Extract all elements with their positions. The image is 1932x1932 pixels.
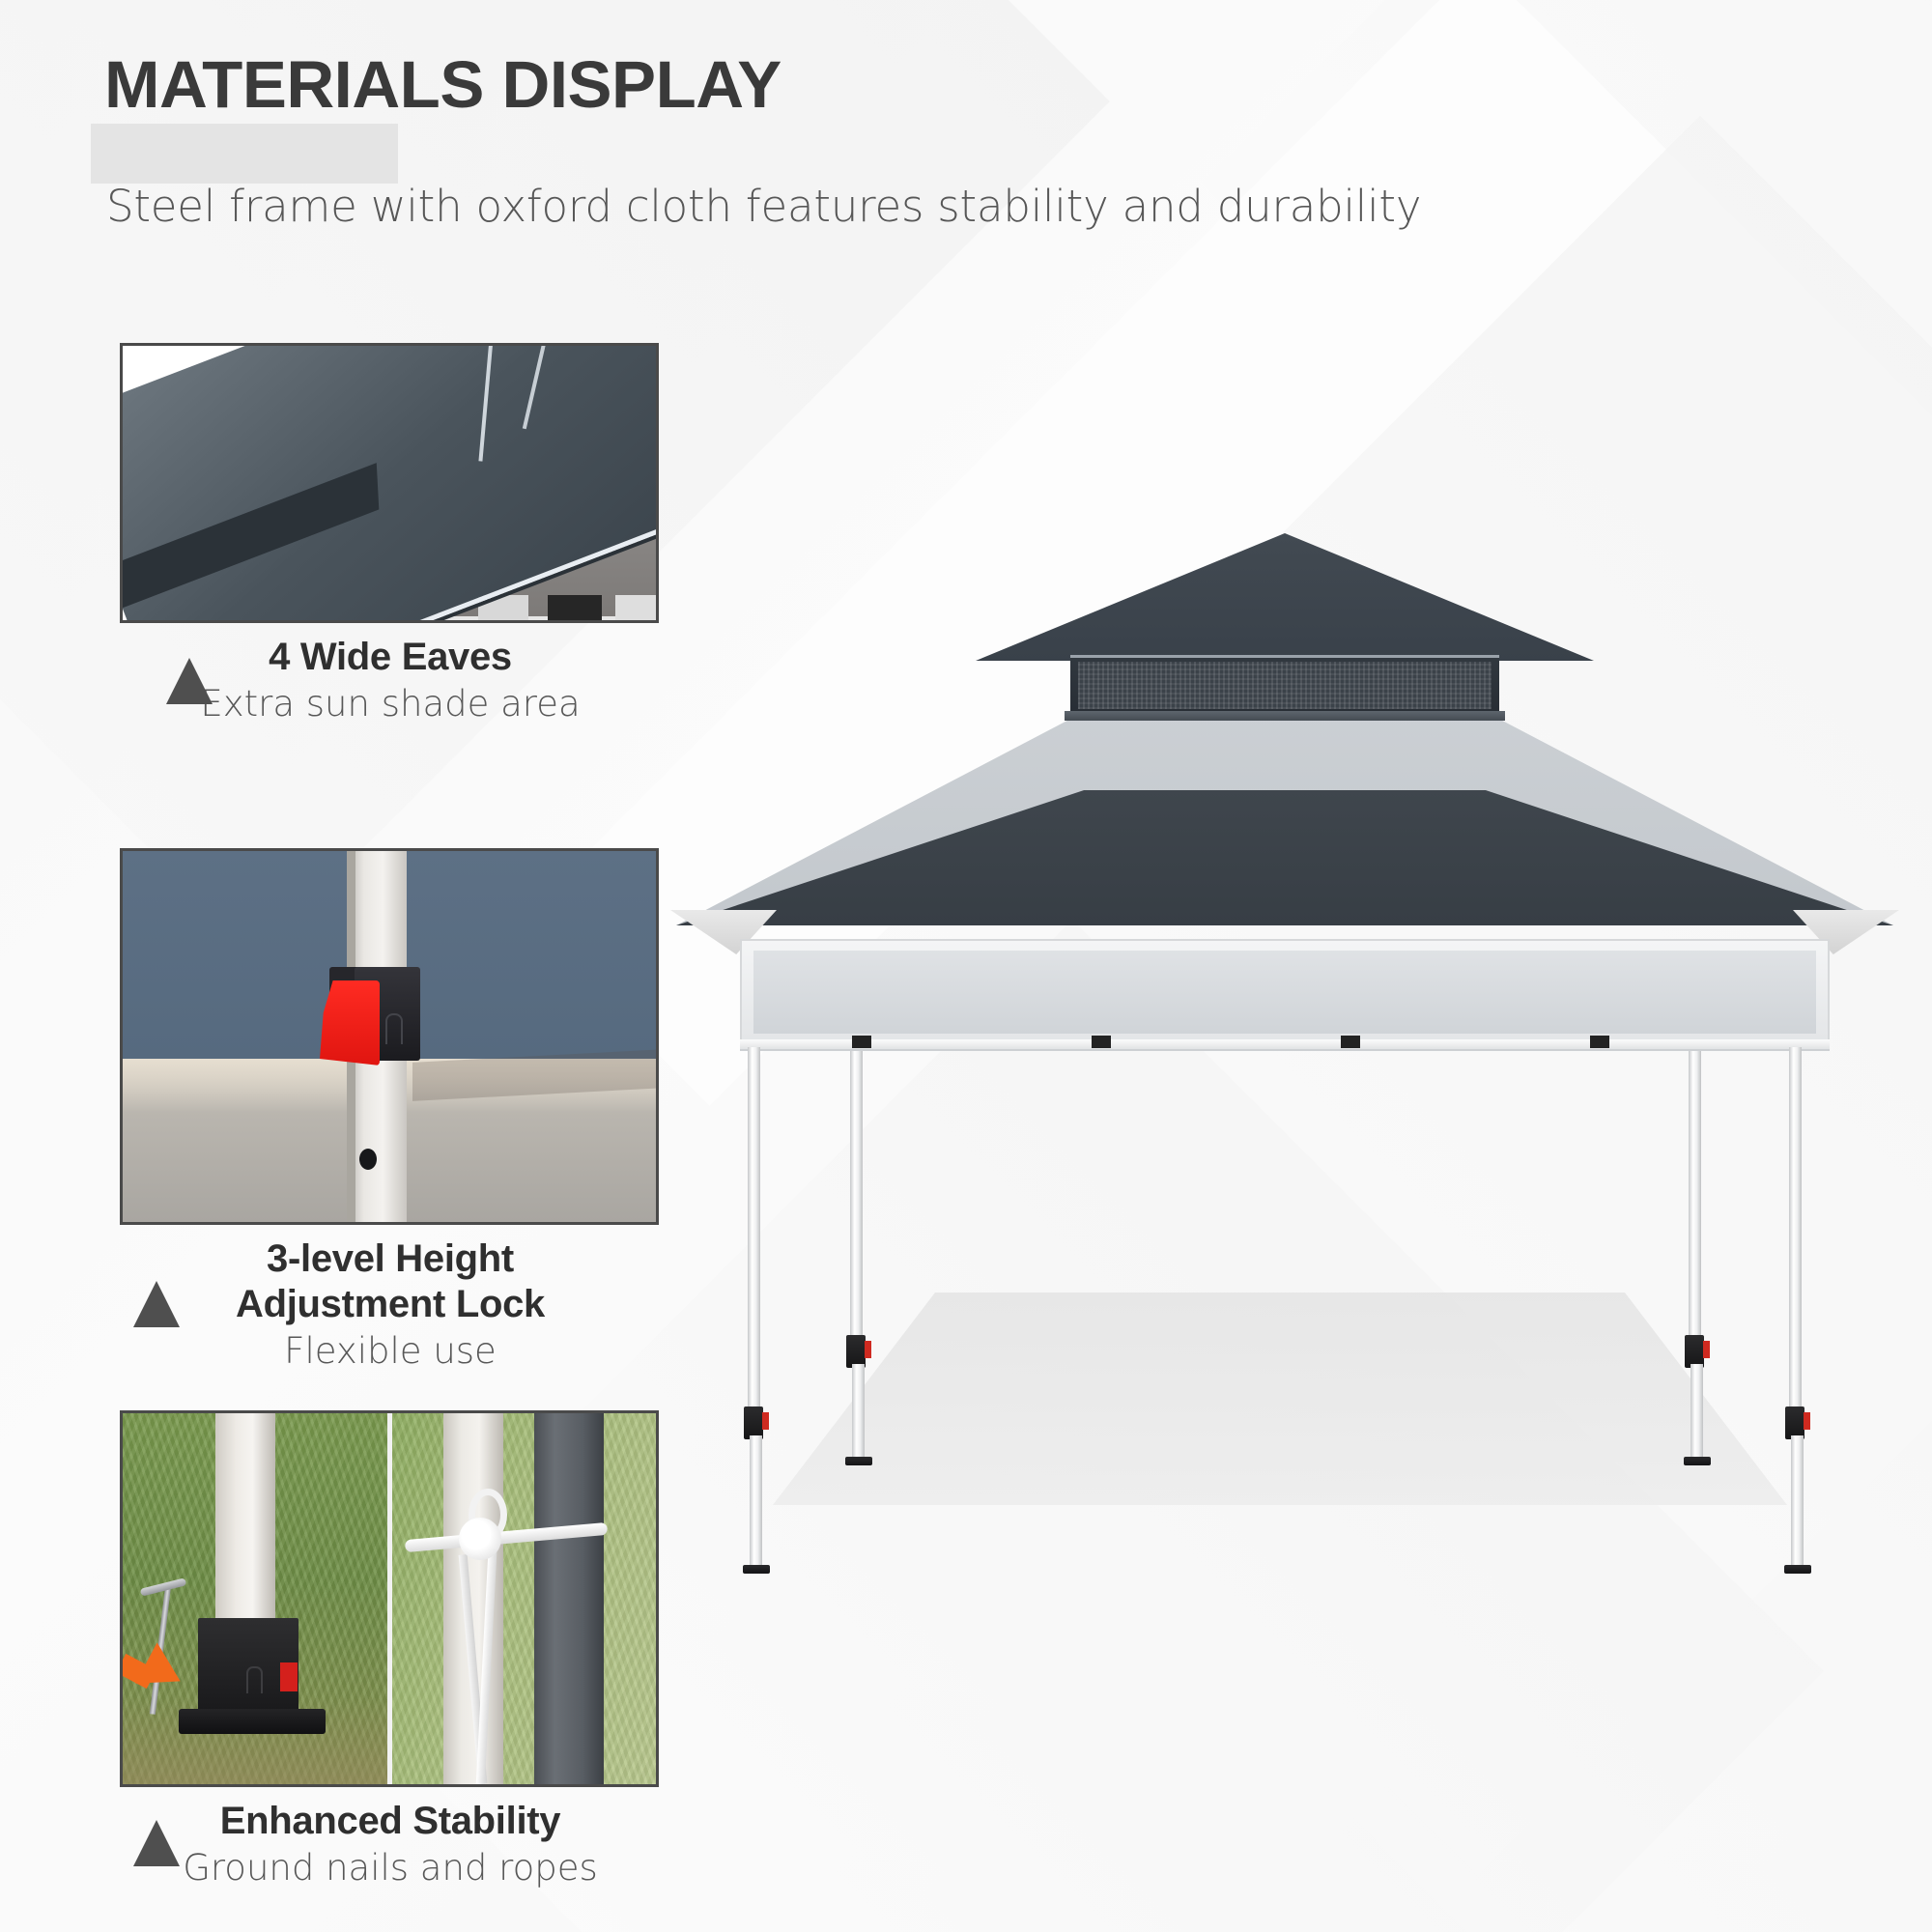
gazebo-floor-shadow: [773, 1293, 1787, 1505]
gazebo-leg-front-right-upper: [1789, 1047, 1802, 1414]
gazebo-leg-back-left-lower: [852, 1364, 865, 1463]
gazebo-leg-back-right-lower: [1690, 1364, 1703, 1463]
canopy-rib-2: [523, 343, 568, 429]
caption-wide-eaves: 4 Wide Eaves Extra sun shade area: [120, 623, 661, 726]
background-post-c: [548, 595, 602, 623]
feature-card-wide-eaves: 4 Wide Eaves Extra sun shade area: [120, 343, 661, 726]
gazebo-bracket: [1092, 1036, 1111, 1048]
gazebo-leg-back-left-upper: [850, 1051, 863, 1343]
gazebo-foot-front-left: [743, 1565, 770, 1574]
gazebo-leg-front-right-lower: [1791, 1435, 1804, 1571]
photo-right-half-rope-knot: [389, 1413, 656, 1784]
feature-card-enhanced-stability: Enhanced Stability Ground nails and rope…: [120, 1410, 661, 1890]
gazebo-fascia: [740, 939, 1830, 1047]
photo-enhanced-stability: [120, 1410, 659, 1787]
gazebo-leg-front-left-upper: [748, 1047, 760, 1414]
gazebo-leg-back-right-upper: [1689, 1051, 1701, 1343]
infographic-page: MATERIALS DISPLAY Steel frame with oxfor…: [0, 0, 1932, 1932]
feature-card-height-lock: 3-level Height Adjustment Lock Flexible …: [120, 848, 661, 1374]
triangle-up-icon: [166, 658, 213, 704]
gazebo-fascia-inner: [753, 951, 1816, 1034]
gazebo-vent-mesh: [1078, 662, 1492, 709]
gazebo-foot-back-left: [845, 1457, 872, 1465]
gazebo-leg-lock-back-right: [1685, 1335, 1704, 1368]
page-subtitle: Steel frame with oxford cloth features s…: [106, 180, 1421, 234]
gazebo-vent-roof: [976, 533, 1594, 661]
gazebo-fascia-rail: [740, 1039, 1830, 1051]
caption-subtitle: Ground nails and ropes: [120, 1846, 661, 1890]
foot-slot-icon: [246, 1666, 263, 1693]
title-highlight-bar: [91, 124, 398, 184]
caption-subtitle: Flexible use: [120, 1329, 661, 1374]
gazebo-foot-front-right: [1784, 1565, 1811, 1574]
product-illustration-gazebo: [676, 541, 1893, 1565]
gazebo-leg-lock-front-right: [1785, 1406, 1804, 1439]
rope-knot: [459, 1518, 501, 1560]
pole-adjustment-hole: [359, 1149, 377, 1170]
caption-height-lock: 3-level Height Adjustment Lock Flexible …: [120, 1225, 661, 1374]
background-post-d: [615, 595, 659, 623]
gazebo-foot-back-right: [1684, 1457, 1711, 1465]
triangle-up-icon: [133, 1281, 180, 1327]
photo-height-lock: [120, 848, 659, 1225]
gazebo-leg-lock-back-left: [846, 1335, 866, 1368]
photo-left-half-ground-stake: [123, 1413, 389, 1784]
gazebo-vent-band: [1070, 655, 1499, 715]
lock-slot-icon: [385, 1013, 403, 1044]
photo-split-divider: [387, 1413, 392, 1784]
caption-enhanced-stability: Enhanced Stability Ground nails and rope…: [120, 1787, 661, 1890]
gazebo-vent-lip: [1065, 711, 1505, 721]
gazebo-bracket: [852, 1036, 871, 1048]
triangle-up-icon: [133, 1820, 180, 1866]
gazebo-leg-front-left-lower: [750, 1435, 762, 1571]
gazebo-bracket: [1590, 1036, 1609, 1048]
grass-texture: [389, 1413, 656, 1784]
photo-wide-eaves: [120, 343, 659, 623]
canopy-rib-1: [478, 343, 497, 462]
base-plate: [179, 1709, 326, 1734]
foot-red-lever: [280, 1662, 298, 1691]
caption-title-line2: Adjustment Lock: [120, 1282, 661, 1327]
gazebo-bracket: [1341, 1036, 1360, 1048]
dark-pole: [534, 1413, 604, 1784]
header: MATERIALS DISPLAY: [104, 50, 1360, 120]
caption-title-line1: 3-level Height: [120, 1236, 661, 1282]
page-title: MATERIALS DISPLAY: [104, 50, 1360, 120]
gazebo-leg-lock-front-left: [744, 1406, 763, 1439]
caption-title: Enhanced Stability: [120, 1799, 661, 1844]
